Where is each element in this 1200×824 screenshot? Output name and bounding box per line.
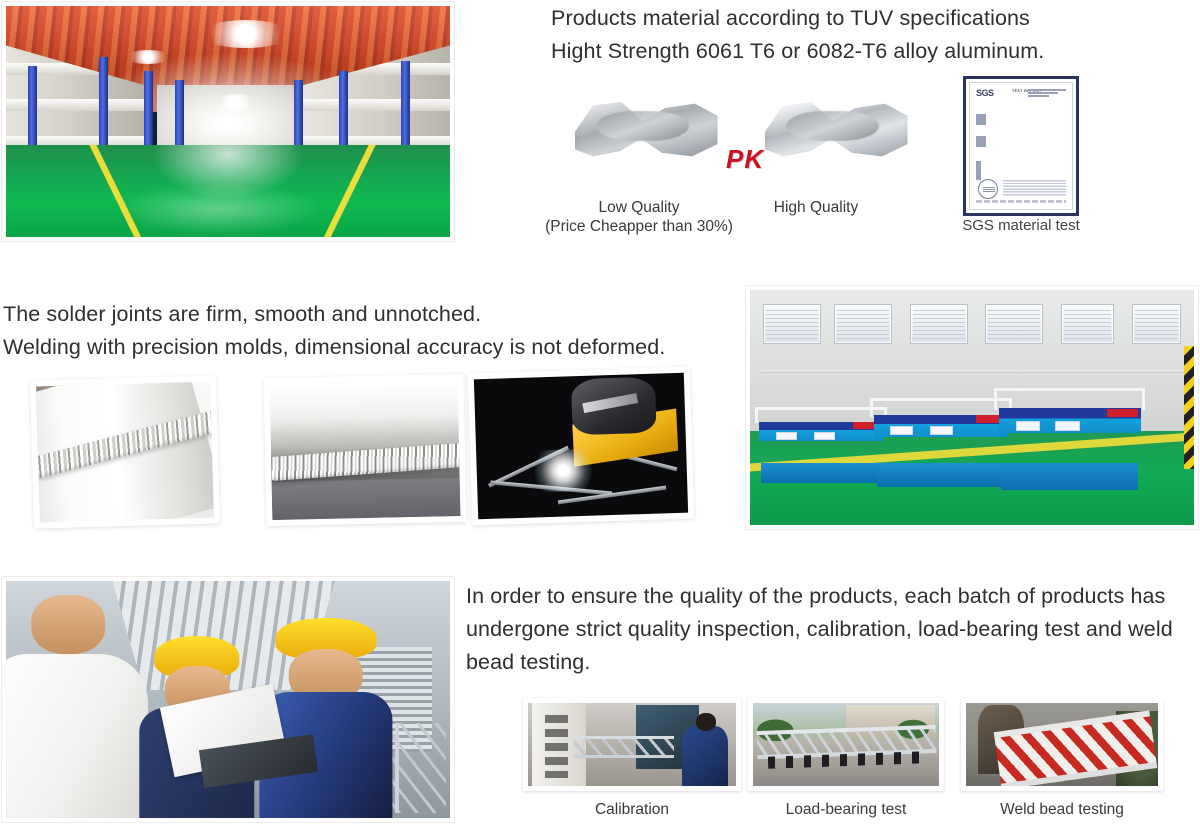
low-quality-caption: Low Quality (Price Cheapper than 30%) — [540, 198, 738, 236]
weld-bead-testing-photo — [961, 698, 1163, 791]
load-bearing-test-caption: Load-bearing test — [748, 800, 944, 819]
product-quality-sheet: Products material according to TUV speci… — [0, 0, 1200, 824]
load-bearing-test-photo — [748, 698, 944, 791]
sgs-table — [976, 114, 986, 125]
sgs-caption: SGS material test — [940, 216, 1102, 235]
calibration-photo — [523, 698, 741, 791]
sgs-table — [976, 136, 986, 147]
welder-at-work-photo — [468, 367, 695, 526]
welding-jig-station — [759, 422, 883, 464]
warehouse-ceiling-lights — [6, 6, 450, 237]
calibration-caption: Calibration — [523, 800, 741, 819]
welding-jig-station — [999, 408, 1141, 464]
weld-closeup-photo-1 — [30, 375, 220, 528]
inspection-heading: In order to ensure the quality of the pr… — [466, 580, 1200, 679]
weld-bead-testing-caption: Weld bead testing — [961, 800, 1163, 819]
welding-jig-station — [874, 415, 1007, 464]
sgs-certificate-image: SGS TEST REPORT — [963, 76, 1079, 216]
pk-versus-label: PK — [726, 144, 764, 175]
welding-workshop-photo — [746, 286, 1198, 529]
sgs-footer-line — [976, 200, 1066, 203]
warehouse-photo — [2, 2, 454, 241]
high-quality-sleeve-image — [762, 86, 912, 174]
low-quality-sleeve-image — [572, 86, 722, 174]
sgs-table — [976, 161, 981, 180]
welding-heading: The solder joints are firm, smooth and u… — [3, 298, 763, 364]
factory-ceiling-pipe — [759, 370, 1185, 373]
material-heading: Products material according to TUV speci… — [551, 2, 1196, 68]
sgs-footer-text-block — [1003, 180, 1066, 197]
quality-inspection-team-photo — [2, 577, 454, 822]
high-quality-caption: High Quality — [742, 198, 890, 217]
sgs-meta-lines — [1028, 89, 1066, 98]
worker-foreground — [2, 590, 148, 818]
sgs-seal-icon — [978, 179, 998, 199]
weld-closeup-photo-2 — [263, 374, 466, 526]
safety-stripe — [1184, 346, 1194, 468]
